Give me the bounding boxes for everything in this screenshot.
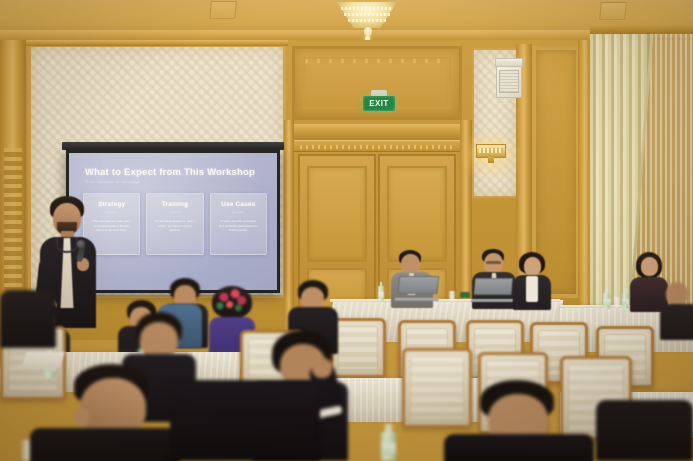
exit-sign-box: EXIT	[363, 96, 395, 111]
fg5-suit	[444, 434, 594, 461]
slide-title: What to Expect from This Workshop	[85, 167, 255, 178]
presenter-lanyard	[56, 237, 78, 253]
foreground-person-right	[170, 380, 320, 461]
fg3-ear	[74, 408, 90, 426]
pa-speaker-grille	[499, 70, 519, 93]
card-body: Explore specific examples and practical …	[215, 219, 262, 233]
bottle-label	[381, 443, 396, 455]
panelist-5-head	[666, 282, 688, 306]
bottle-neck	[380, 282, 383, 287]
laptop-2-lid	[474, 278, 514, 295]
slide-subtitle: Three outcomes we encourage	[85, 180, 140, 184]
fg3-suit	[30, 428, 180, 461]
microphone-head	[77, 240, 85, 248]
panelist-2-glasses	[486, 261, 501, 264]
drinking-glass[interactable]	[614, 297, 620, 308]
fg1-head	[140, 322, 178, 358]
laptop-2-base	[471, 299, 513, 302]
ceiling-ornament-left	[209, 1, 237, 19]
panelist-3-head	[524, 257, 541, 276]
standing-left-body	[0, 290, 56, 348]
drinking-glass[interactable]	[449, 291, 455, 301]
bottle-label	[603, 299, 610, 306]
chandelier-crystal-row	[348, 19, 386, 22]
fg6-suit	[596, 400, 693, 461]
slide-card-use-cases: Use Cases Examples Explore specific exam…	[210, 193, 267, 255]
fg2-hand	[312, 358, 332, 378]
laptop-1-base	[395, 298, 439, 301]
laptop-2[interactable]	[473, 278, 513, 302]
conference-hall-photo: EXIT What to Expect from This Workshop T…	[0, 0, 693, 461]
pa-speaker	[495, 58, 523, 100]
panelist-1-head	[401, 254, 420, 274]
exit-sign: EXIT	[363, 94, 395, 113]
foreground-person-front	[30, 364, 180, 461]
sconce-plate	[476, 144, 506, 158]
projection-screen-housing	[62, 142, 284, 150]
sconce-arm	[488, 157, 494, 163]
slide-card-training: Training Hands-on Understand what AI is,…	[146, 193, 203, 255]
bottle-neck	[624, 288, 627, 293]
door-cornice	[290, 124, 464, 140]
panel-top-trim	[26, 40, 288, 46]
water-bottle[interactable]	[378, 282, 384, 301]
ceiling-ornament-right	[599, 2, 627, 20]
standing-person-left	[0, 290, 56, 348]
water-bottle[interactable]	[622, 288, 629, 309]
bottle-label	[378, 292, 384, 298]
desk-object-green	[460, 292, 470, 298]
panelist-3-blouse	[526, 276, 538, 302]
fg4-suit	[170, 380, 320, 461]
panelist-5-jacket	[660, 304, 693, 340]
panelist-5-partial	[660, 282, 693, 340]
chandelier-crystal-row	[341, 7, 393, 10]
card-kicker: Hands-on	[151, 210, 198, 214]
card-title: Training	[151, 201, 198, 208]
curtain-rod	[590, 26, 693, 34]
water-bottle[interactable]	[381, 424, 396, 461]
floral-headscarf	[212, 286, 252, 318]
laptop-1[interactable]	[397, 276, 440, 301]
panelist-3	[512, 252, 552, 310]
laptop-1-lid	[397, 276, 439, 294]
card-title: Use Cases	[215, 201, 262, 208]
exit-sign-label: EXIT	[369, 100, 388, 108]
bottle-neck	[605, 288, 608, 293]
chandelier	[331, 0, 403, 42]
water-bottle[interactable]	[603, 288, 610, 309]
chandelier-crystal-row	[344, 13, 390, 16]
panelist-4-head	[641, 257, 658, 276]
bottle-label	[622, 299, 629, 306]
door-frieze	[294, 140, 460, 152]
wall-sconce	[474, 140, 508, 164]
card-kicker: Examples	[215, 210, 262, 214]
bottle-neck	[385, 424, 392, 434]
card-body: Understand what AI is, how it works, and…	[151, 219, 198, 233]
foreground-person-bottom-right	[444, 380, 594, 461]
slide-card-row: Strategy Orientation Map and assess what…	[83, 193, 267, 255]
foreground-person-far-right	[596, 400, 693, 461]
